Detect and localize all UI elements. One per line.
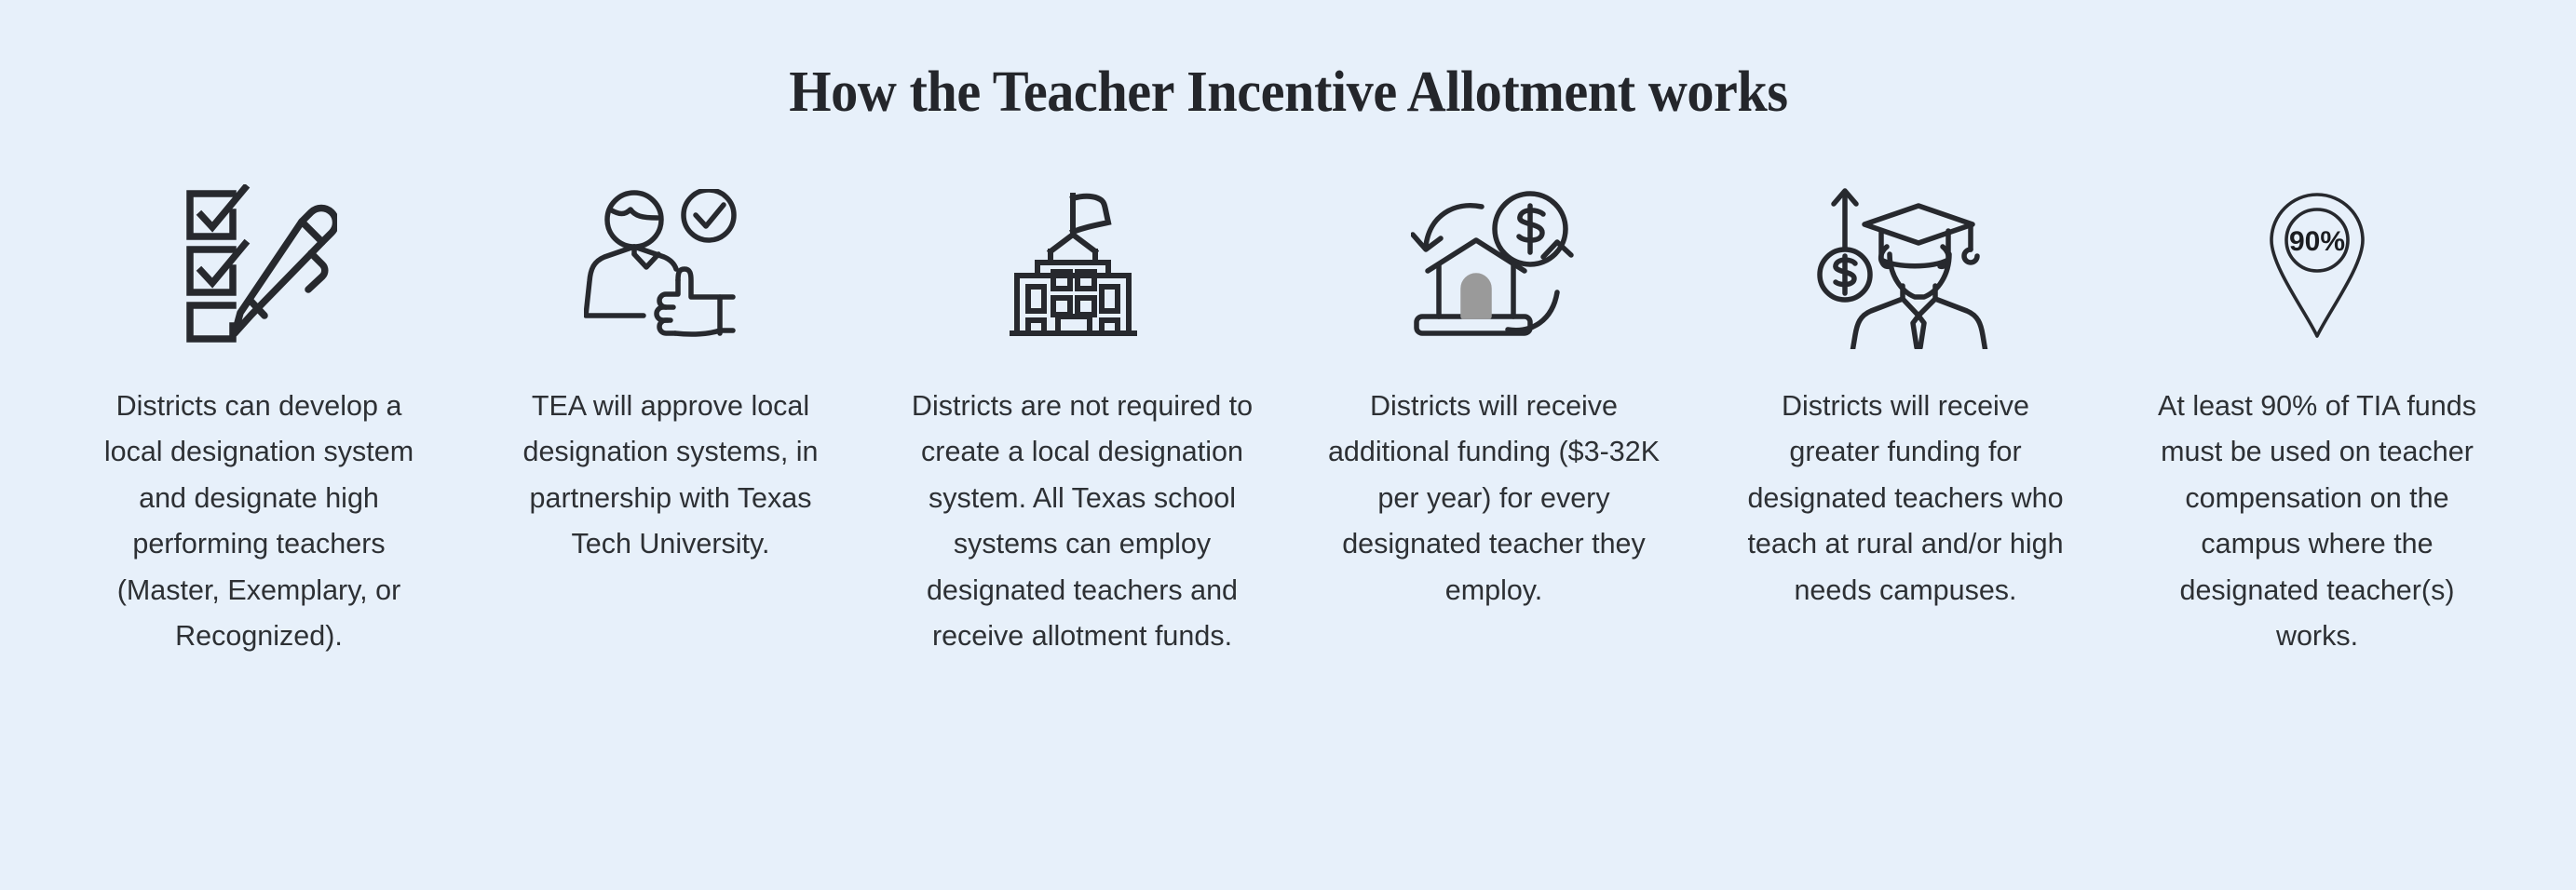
checklist-pen-icon xyxy=(59,182,459,350)
graduate-dollar-arrow-up-icon xyxy=(1705,182,2106,350)
info-column-text: Districts will receive additional fundin… xyxy=(1322,384,1666,614)
info-column-text: Districts will receive greater funding f… xyxy=(1733,384,2078,614)
school-building-flag-icon xyxy=(882,182,1282,350)
info-column-text: Districts are not required to create a l… xyxy=(905,384,1259,659)
pin-label: 90% xyxy=(2289,226,2345,257)
info-column-text: TEA will approve local designation syste… xyxy=(498,384,843,568)
columns-row: Districts can develop a local designatio… xyxy=(31,182,2545,659)
page-title: How the Teacher Incentive Allotment work… xyxy=(789,63,1787,121)
info-column: Districts will receive greater funding f… xyxy=(1705,182,2106,614)
map-pin-90-percent-icon: 90% xyxy=(2117,182,2517,350)
info-column: Districts can develop a local designatio… xyxy=(59,182,459,659)
info-column: TEA will approve local designation syste… xyxy=(470,182,871,568)
info-column: Districts will receive additional fundin… xyxy=(1294,182,1694,614)
info-column: 90% At least 90% of TIA funds must be us… xyxy=(2117,182,2517,659)
person-thumbs-up-approved-icon xyxy=(470,182,871,350)
house-dollar-cycle-icon xyxy=(1294,182,1694,350)
infographic-root: How the Teacher Incentive Allotment work… xyxy=(0,0,2576,890)
info-column: Districts are not required to create a l… xyxy=(882,182,1282,659)
info-column-text: At least 90% of TIA funds must be used o… xyxy=(2140,384,2494,659)
info-column-text: Districts can develop a local designatio… xyxy=(87,384,431,659)
